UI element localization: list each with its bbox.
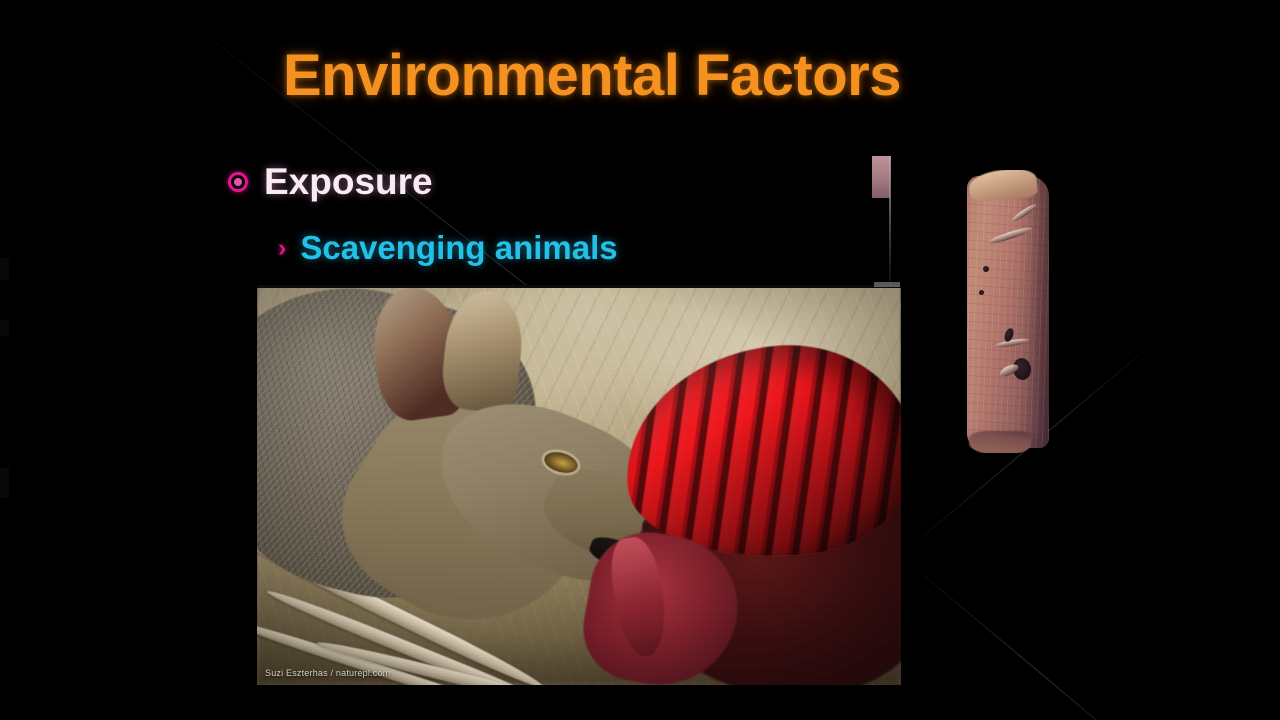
target-dot-bullet-icon — [228, 172, 248, 192]
bone-bottom-break-surface — [969, 431, 1031, 453]
sliver-line-artifact — [889, 156, 891, 286]
gnawed-bone-fragment-image — [965, 170, 1060, 453]
edge-artifact-lower — [0, 468, 9, 498]
slide-title: Environmental Factors — [283, 45, 983, 107]
bullet-label-exposure: Exposure — [264, 162, 433, 202]
photo-credit-caption: Suzi Eszterhas / naturepl.com — [265, 668, 390, 679]
diagonal-accent-line-lower-b — [897, 553, 1173, 720]
bullet-label-scavenging-animals: Scavenging animals — [300, 230, 617, 266]
sliver-foot-artifact — [874, 282, 900, 287]
bullet-item-exposure: Exposure — [228, 162, 433, 202]
jackal-scavenging-carcass-photo: Suzi Eszterhas / naturepl.com — [257, 285, 901, 685]
photo-top-border — [257, 285, 901, 288]
sliver-chip-artifact — [872, 156, 890, 198]
presentation-slide: Environmental Factors Exposure › Scaveng… — [0, 0, 1280, 720]
chevron-right-bullet-icon: › — [278, 236, 286, 261]
photo-grain — [257, 285, 901, 685]
edge-artifact-mid — [0, 320, 9, 336]
bone-surface-texture — [967, 176, 1049, 448]
edge-artifact-upper — [0, 258, 9, 280]
bullet-item-scavenging-animals: › Scavenging animals — [278, 230, 618, 266]
bone-pit-1 — [983, 266, 989, 272]
bone-pit-2 — [979, 290, 984, 295]
